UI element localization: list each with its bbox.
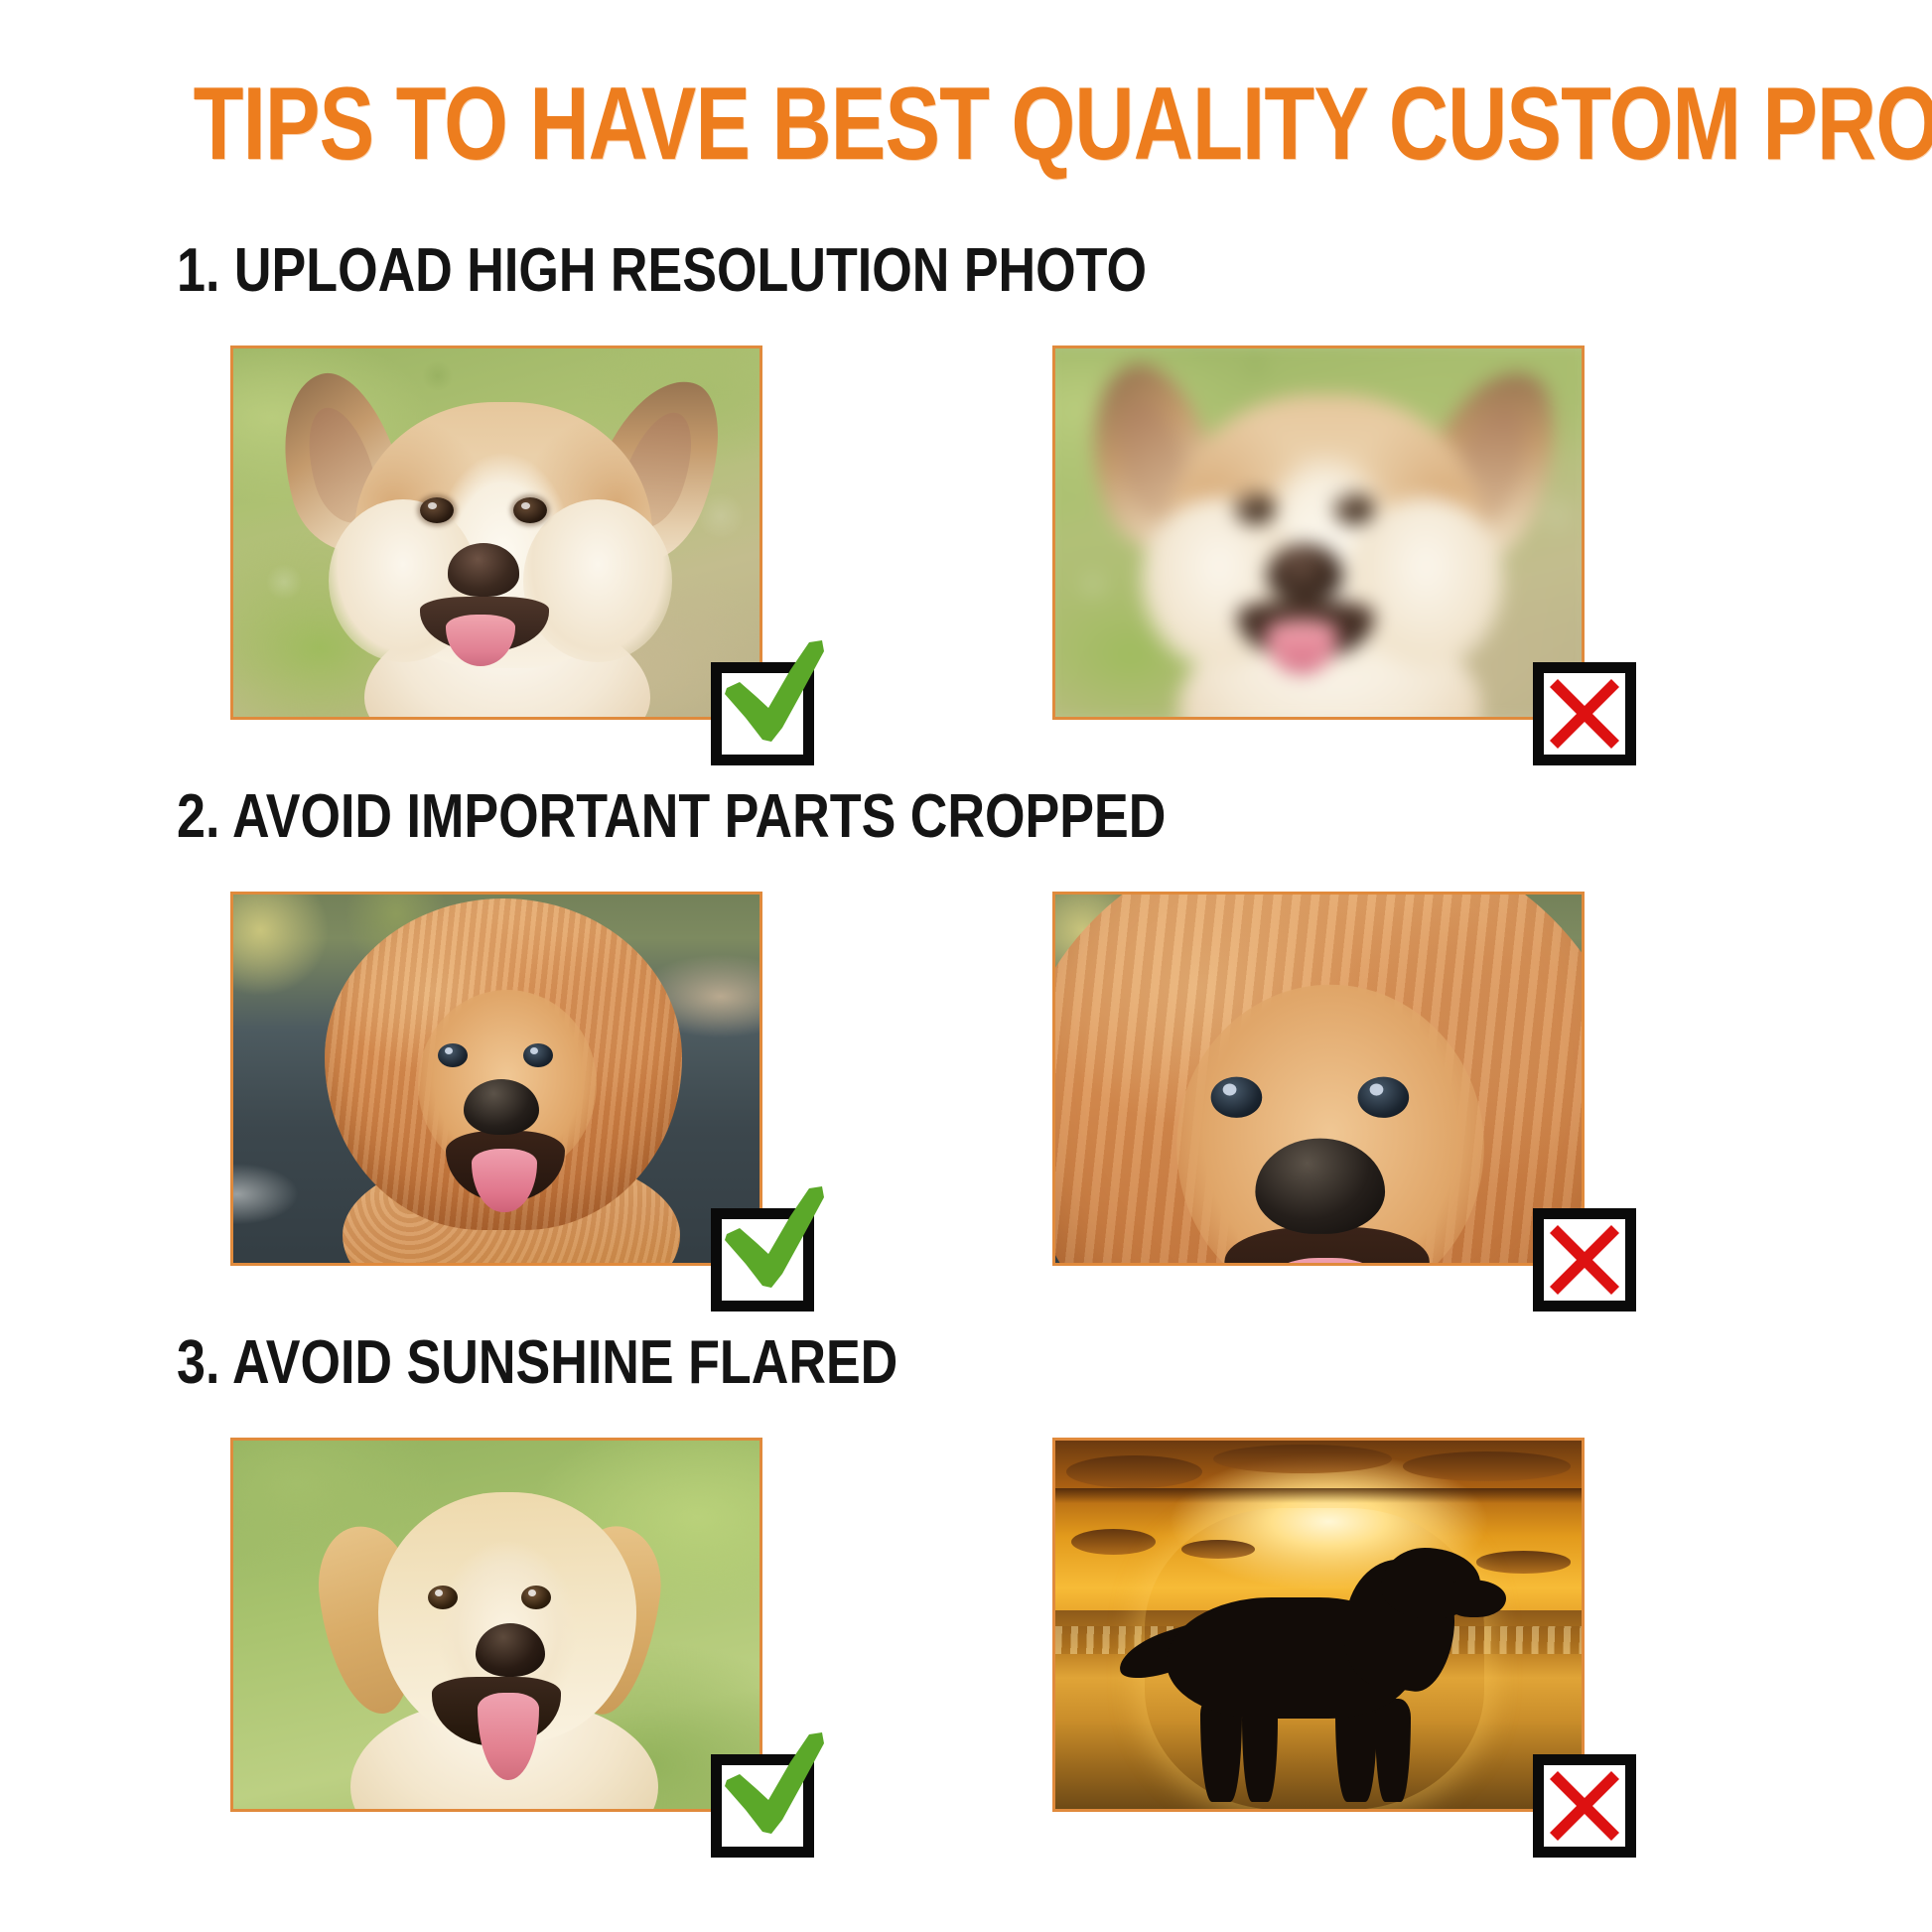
cross-icon <box>1546 675 1623 753</box>
tip-1-good-photo-slot: Sharp high-resolution photo of a smiling… <box>230 345 762 720</box>
doodle-right-eye <box>523 1043 553 1067</box>
corgi-right-eye <box>513 497 547 523</box>
cross-icon <box>1546 1767 1623 1845</box>
golden-retriever-illustration <box>233 1441 759 1809</box>
doodle-illustration <box>233 895 759 1263</box>
photo-doodle-cropped <box>1055 895 1582 1263</box>
infographic-poster: TIPS TO HAVE BEST QUALITY CUSTOM PRODUCT… <box>0 0 1932 1932</box>
tip-section-3-heading: 3. AVOID SUNSHINE FLARED <box>177 1330 897 1396</box>
cloud-band <box>1055 1488 1582 1503</box>
tip-3-good-photo-slot: Evenly lit Golden Retriever in front of … <box>230 1438 762 1812</box>
photo-corgi-sharp <box>233 348 759 717</box>
tip-section-1-heading: 1. UPLOAD HIGH RESOLUTION PHOTO <box>177 238 1147 304</box>
page-title: TIPS TO HAVE BEST QUALITY CUSTOM PRODUCT… <box>194 69 1739 179</box>
check-icon <box>707 1178 832 1304</box>
doodle-nose <box>1255 1139 1385 1234</box>
tip-section-2-photo-row: Cavapoo with entire head and ears fully … <box>0 892 1932 1279</box>
cloud <box>1071 1529 1156 1555</box>
check-badge <box>711 662 814 765</box>
silhouette-snout <box>1445 1580 1506 1617</box>
cross-badge <box>1533 662 1636 765</box>
cloud <box>1066 1455 1203 1488</box>
photo-frame-corgi-sharp <box>230 345 762 720</box>
retriever-nose <box>476 1623 545 1677</box>
retriever-right-eye <box>521 1586 551 1609</box>
corgi-right-eye <box>1336 495 1372 523</box>
tip-section-2-heading: 2. AVOID IMPORTANT PARTS CROPPED <box>177 784 1166 850</box>
corgi-nose <box>448 543 519 597</box>
cloud <box>1403 1451 1572 1481</box>
cross-icon <box>1546 1221 1623 1299</box>
corgi-nose <box>1267 544 1342 601</box>
corgi-right-cheek <box>523 499 672 662</box>
check-icon <box>707 632 832 758</box>
photo-corgi-blurry <box>1052 345 1585 720</box>
photo-frame-golden-retriever <box>230 1438 762 1812</box>
photo-frame-doodle-cropped <box>1052 892 1585 1266</box>
corgi-left-eye <box>1237 495 1273 523</box>
photo-frame-sunset-silhouette <box>1052 1438 1585 1812</box>
cross-badge <box>1533 1208 1636 1311</box>
tip-3-bad-photo-slot: Backlit dog silhouette against a bright … <box>1052 1438 1585 1812</box>
backlit-dog-silhouette <box>1151 1514 1478 1804</box>
tip-2-good-photo-slot: Cavapoo with entire head and ears fully … <box>230 892 762 1266</box>
retriever-left-eye <box>428 1586 458 1609</box>
photo-doodle-full <box>233 895 759 1263</box>
check-icon <box>707 1725 832 1850</box>
doodle-nose <box>464 1079 539 1135</box>
corgi-illustration <box>233 348 759 717</box>
tip-section-1-photo-row: Sharp high-resolution photo of a smiling… <box>0 345 1932 733</box>
tip-1-bad-photo-slot: Blurry low-resolution photo of the same … <box>1052 345 1585 720</box>
cloud <box>1213 1445 1392 1474</box>
corgi-left-eye <box>420 497 454 523</box>
photo-frame-doodle-full <box>230 892 762 1266</box>
silhouette-leg <box>1375 1699 1411 1802</box>
photo-sunset-silhouette <box>1055 1441 1582 1809</box>
cloud <box>1476 1551 1571 1573</box>
tip-section-3-photo-row: Evenly lit Golden Retriever in front of … <box>0 1438 1932 1825</box>
doodle-right-eye <box>1358 1077 1410 1118</box>
cross-badge <box>1533 1754 1636 1858</box>
doodle-left-eye <box>438 1043 468 1067</box>
corgi-illustration <box>1052 345 1585 720</box>
doodle-illustration <box>1055 895 1582 1263</box>
photo-golden-retriever <box>233 1441 759 1809</box>
doodle-left-eye <box>1211 1077 1263 1118</box>
check-badge <box>711 1208 814 1311</box>
photo-frame-corgi-blurry <box>1052 345 1585 720</box>
check-badge <box>711 1754 814 1858</box>
tip-2-bad-photo-slot: Same Cavapoo zoomed in so the top of the… <box>1052 892 1585 1266</box>
corgi-right-cheek <box>1347 497 1505 670</box>
